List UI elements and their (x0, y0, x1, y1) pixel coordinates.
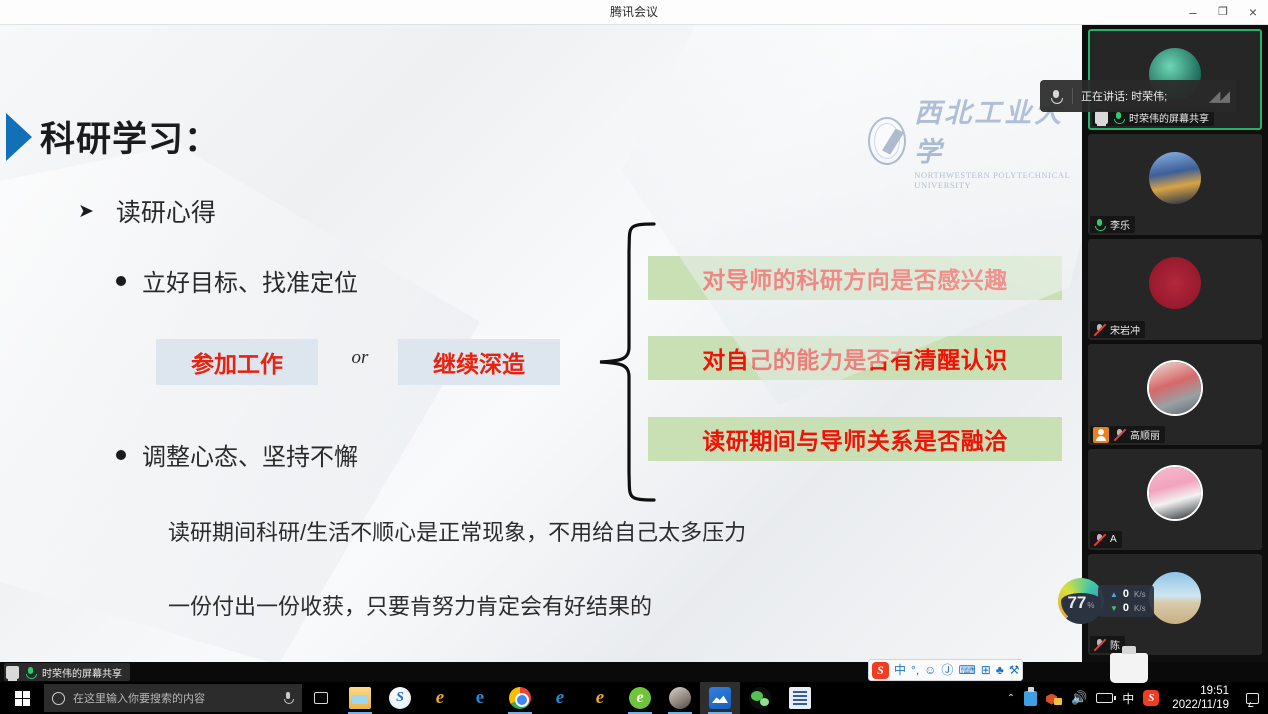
windows-taskbar: 在这里输入你要搜索的内容 S e e e e e (0, 682, 1268, 714)
window-titlebar: 腾讯会议 – ❐ × (0, 0, 1268, 25)
ie-browser-icon: e (589, 687, 611, 709)
taskbar-search-input[interactable]: 在这里输入你要搜索的内容 (44, 684, 302, 712)
slide-subheading: ➤ 读研心得 (78, 193, 216, 229)
upload-arrow-icon: ▲ (1110, 590, 1118, 599)
participant-name: 宋岩冲 (1110, 322, 1140, 337)
slide-title: 科研学习： (40, 111, 220, 162)
ime-mode-chinese-icon[interactable]: 中 (894, 664, 906, 676)
download-arrow-icon: ▼ (1110, 604, 1118, 613)
active-speaker-toast: 正在讲话: 时荣伟; ◢◢ (1040, 80, 1236, 112)
callout-box-1: 对导师的科研方向是否感兴趣 (648, 256, 1062, 300)
screen-share-strip: 时荣伟的屏幕共享 (0, 662, 1268, 682)
ime-emoji-icon[interactable]: ☺ (924, 664, 936, 676)
ime-punctuation-icon[interactable]: °, (911, 664, 919, 676)
ime-voice-input-icon[interactable]: Ⓙ (941, 664, 953, 676)
taskbar-app-wps-office[interactable] (780, 682, 820, 714)
participant-nameplate: 李乐 (1090, 216, 1135, 233)
screen-share-label: 时荣伟的屏幕共享 (42, 665, 122, 680)
slide-bullet-b: 调整心态、坚持不懈 (116, 437, 358, 472)
participant-nameplate: 高顺丽 (1090, 426, 1165, 443)
option-chip-left: 参加工作 (156, 339, 318, 385)
sogou-browser-icon: S (389, 687, 411, 709)
slide-content: 科研学习： ➤ 读研心得 立好目标、找准定位 参加工作 or 继续深造 调整心态… (0, 25, 1082, 662)
active-speaker-label: 正在讲话: 时荣伟; (1072, 88, 1167, 104)
upload-speed-row: ▲ 0 K/s (1110, 588, 1146, 600)
maximize-restore-button[interactable]: ❐ (1208, 0, 1238, 25)
voice-search-icon[interactable] (282, 691, 294, 706)
clock-date: 2022/11/19 (1172, 698, 1229, 712)
sogou-logo-icon[interactable]: S (872, 662, 889, 679)
callout-box-2: 对自己的能力是否有清醒认识 (648, 336, 1062, 380)
microphone-on-icon (1112, 111, 1125, 124)
taskbar-app-edge-browser[interactable]: e (460, 682, 500, 714)
cortana-circle-icon (52, 692, 65, 705)
notification-center-button[interactable] (1242, 682, 1262, 714)
audio-wave-icon: ◢◢ (1209, 87, 1228, 105)
photos-icon (669, 687, 691, 709)
screen-share-tag[interactable]: 时荣伟的屏幕共享 (4, 663, 130, 681)
tencent-meeting-icon (709, 687, 731, 709)
participant-name: 李乐 (1110, 217, 1130, 232)
system-monitor-widget[interactable]: 77 % ▲ 0 K/s ▼ 0 K/s (1058, 578, 1154, 624)
taskbar-app-list: S e e e e e (340, 682, 820, 714)
taskbar-app-ie-browser-gold2[interactable]: e (580, 682, 620, 714)
host-badge-icon (1093, 427, 1109, 443)
clock-time: 19:51 (1200, 684, 1229, 698)
window-title: 腾讯会议 (0, 0, 1268, 25)
callout-box-3: 读研期间与导师关系是否融洽 (648, 417, 1062, 461)
meeting-body: 科研学习： ➤ 读研心得 立好目标、找准定位 参加工作 or 继续深造 调整心态… (0, 25, 1268, 662)
microphone-muted-icon (1093, 323, 1106, 336)
task-view-button[interactable] (302, 682, 340, 714)
taskbar-app-chrome-browser[interactable] (500, 682, 540, 714)
dot-bullet-icon (116, 276, 126, 286)
microphone-muted-icon (1113, 428, 1126, 441)
participant-rail[interactable]: 时荣伟的屏幕共享 李乐 宋岩冲 (1082, 25, 1268, 662)
slide-bullet-a: 立好目标、找准定位 (116, 263, 358, 298)
windows-logo-icon (15, 691, 30, 706)
tencent-meeting-window: 腾讯会议 – ❐ × 科研学习： ➤ 读研心得 立好目标、找准定位 参加工作 o… (0, 0, 1268, 714)
university-name-en: NORTHWESTERN POLYTECHNICAL UNIVERSITY (914, 170, 1082, 190)
participant-nameplate: 陈 (1090, 636, 1125, 653)
minimize-button[interactable]: – (1178, 0, 1208, 25)
close-button[interactable]: × (1238, 0, 1268, 25)
sogou-tray-icon[interactable]: S (1143, 690, 1159, 706)
360-browser-icon: e (629, 687, 651, 709)
file-explorer-icon (349, 687, 371, 709)
task-view-icon (314, 692, 328, 704)
screen-share-icon (6, 666, 19, 679)
avatar (1149, 152, 1201, 204)
microphone-icon (1048, 88, 1064, 104)
curly-brace-icon (596, 221, 656, 503)
participant-tile-3[interactable]: 高顺丽 (1088, 344, 1262, 445)
percent-symbol: % (1087, 601, 1094, 610)
taskbar-app-file-explorer[interactable] (340, 682, 380, 714)
option-chip-right: 继续深造 (398, 339, 560, 385)
taskbar-app-ie-browser-blue[interactable]: e (540, 682, 580, 714)
download-speed-value: 0 (1123, 602, 1129, 614)
taskbar-app-360-browser[interactable]: e (620, 682, 660, 714)
slide-subheading-label: 读研心得 (116, 193, 216, 229)
triangle-bullet-icon (6, 113, 32, 161)
upload-speed-unit: K/s (1134, 590, 1146, 599)
participant-nameplate: 宋岩冲 (1090, 321, 1145, 338)
taskbar-app-sogou-browser[interactable]: S (380, 682, 420, 714)
ie-browser-icon: e (549, 687, 571, 709)
participant-name: 陈 (1110, 637, 1120, 652)
avatar (1149, 362, 1201, 414)
university-seal-icon (868, 117, 906, 165)
avatar (1149, 467, 1201, 519)
upload-speed-value: 0 (1123, 588, 1129, 600)
chrome-browser-icon (509, 687, 531, 709)
microphone-muted-icon (1093, 638, 1106, 651)
ime-skin-icon[interactable]: ♣ (996, 664, 1004, 676)
participant-nameplate: A (1090, 531, 1122, 548)
download-speed-unit: K/s (1134, 604, 1146, 613)
start-button[interactable] (0, 682, 44, 714)
microphone-muted-icon (1093, 533, 1106, 546)
volume-icon[interactable]: 🔊 (1071, 690, 1087, 706)
avatar (1149, 572, 1201, 624)
taskbar-clock[interactable]: 19:51 2022/11/19 (1168, 684, 1233, 713)
download-speed-row: ▼ 0 K/s (1110, 602, 1146, 614)
avatar (1149, 257, 1201, 309)
edge-browser-icon: e (469, 687, 491, 709)
microphone-on-icon (24, 666, 37, 679)
slide-bullet-a-label: 立好目标、找准定位 (142, 263, 358, 298)
shared-screen-slide[interactable]: 科研学习： ➤ 读研心得 立好目标、找准定位 参加工作 or 继续深造 调整心态… (0, 25, 1082, 662)
taskbar-app-photos[interactable] (660, 682, 700, 714)
chevron-right-icon: ➤ (78, 200, 94, 223)
tray-overflow-icon[interactable]: ⌃ (1007, 693, 1015, 704)
participant-name: 时荣伟的屏幕共享 (1129, 110, 1209, 125)
usb-eject-icon[interactable] (1024, 691, 1037, 706)
ime-language-indicator[interactable]: 中 (1122, 690, 1134, 707)
taskbar-app-wechat[interactable] (740, 682, 780, 714)
dot-bullet-icon (116, 450, 126, 460)
notification-bubble-icon (1246, 693, 1259, 704)
ie-browser-icon: e (429, 687, 451, 709)
ime-toolbox-icon[interactable]: ⊞ (981, 664, 991, 676)
participant-tile-4[interactable]: A (1088, 449, 1262, 550)
microphone-on-icon (1093, 218, 1106, 231)
battery-icon[interactable] (1096, 693, 1113, 703)
system-tray: ⌃ 🔊 中 S 19:51 2022/11/19 (1007, 682, 1268, 714)
cpu-usage-value: 77 (1067, 593, 1086, 613)
taskbar-app-ie-browser-gold[interactable]: e (420, 682, 460, 714)
taskbar-app-tencent-meeting[interactable] (700, 682, 740, 714)
slide-note-2: 一份付出一份收获，只要肯努力肯定会有好结果的 (168, 589, 652, 621)
slide-bullet-b-label: 调整心态、坚持不懈 (142, 437, 358, 472)
ime-soft-keyboard-icon[interactable]: ⌨ (958, 664, 975, 676)
wps-office-icon (789, 687, 811, 709)
sogou-ime-toolbar[interactable]: S 中 °, ☺ Ⓙ ⌨ ⊞ ♣ ⚒ (868, 659, 1023, 681)
participant-name: 高顺丽 (1130, 427, 1160, 442)
participant-tile-1[interactable]: 李乐 (1088, 134, 1262, 235)
participant-tile-2[interactable]: 宋岩冲 (1088, 239, 1262, 340)
usb-device-icon (1110, 653, 1148, 683)
search-placeholder: 在这里输入你要搜索的内容 (73, 690, 274, 706)
ime-settings-icon[interactable]: ⚒ (1009, 664, 1020, 676)
option-separator: or (338, 347, 382, 369)
participant-name: A (1110, 534, 1117, 545)
network-speed-panel: ▲ 0 K/s ▼ 0 K/s (1098, 585, 1154, 617)
slide-note-1: 读研期间科研/生活不顺心是正常现象，不用给自己太多压力 (168, 515, 746, 547)
wechat-icon (749, 687, 771, 709)
security-shield-icon[interactable] (1046, 691, 1062, 706)
screen-share-icon (1095, 111, 1108, 124)
